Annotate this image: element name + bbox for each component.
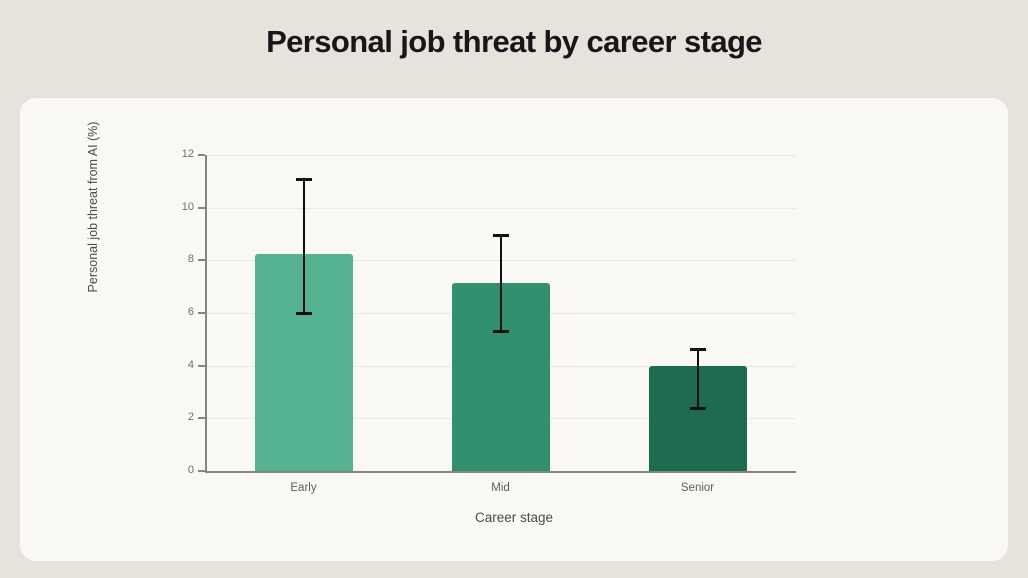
page-title: Personal job threat by career stage (0, 24, 1028, 60)
y-axis-title: Personal job threat from AI (%) (86, 97, 100, 317)
x-axis-spine (205, 471, 796, 473)
gridline (205, 155, 796, 156)
error-bar-cap-upper (690, 348, 706, 351)
y-tick-label-holder: 8 (160, 254, 194, 265)
error-bar-line (697, 349, 699, 408)
y-tick-mark (198, 470, 205, 472)
error-bar-cap-lower (690, 407, 706, 410)
y-tick-label-holder: 12 (160, 149, 194, 160)
y-tick-mark (198, 365, 205, 367)
error-bar-line (303, 179, 305, 313)
chart-page: Personal job threat by career stage Pers… (0, 0, 1028, 578)
x-tick-label: Mid (441, 482, 561, 494)
error-bar-cap-lower (296, 312, 312, 315)
error-bar-cap-upper (296, 178, 312, 181)
y-tick-label: 4 (166, 360, 194, 371)
y-tick-label: 6 (166, 307, 194, 318)
y-tick-mark (198, 312, 205, 314)
y-tick-mark (198, 417, 205, 419)
y-tick-mark (198, 154, 205, 156)
y-axis-spine (205, 155, 207, 472)
x-tick-label: Early (244, 482, 364, 494)
y-tick-mark (198, 259, 205, 261)
y-tick-label-holder: 2 (160, 412, 194, 423)
y-tick-label: 12 (166, 149, 194, 160)
y-tick-label-holder: 4 (160, 360, 194, 371)
plot-area (205, 155, 796, 471)
y-tick-label: 10 (166, 202, 194, 213)
x-axis-title: Career stage (20, 510, 1008, 525)
y-tick-mark (198, 207, 205, 209)
chart-card: Personal job threat from AI (%) 02468101… (20, 98, 1008, 561)
y-tick-label: 8 (166, 254, 194, 265)
plot-wrapper: Personal job threat from AI (%) 02468101… (20, 98, 1008, 561)
gridline (205, 208, 796, 209)
error-bar-cap-lower (493, 330, 509, 333)
y-tick-label: 2 (166, 412, 194, 423)
error-bar-line (500, 235, 502, 331)
x-tick-label: Senior (638, 482, 758, 494)
y-tick-label: 0 (166, 465, 194, 476)
y-tick-label-holder: 6 (160, 307, 194, 318)
y-tick-label-holder: 10 (160, 202, 194, 213)
error-bar-cap-upper (493, 234, 509, 237)
y-tick-label-holder: 0 (160, 465, 194, 476)
